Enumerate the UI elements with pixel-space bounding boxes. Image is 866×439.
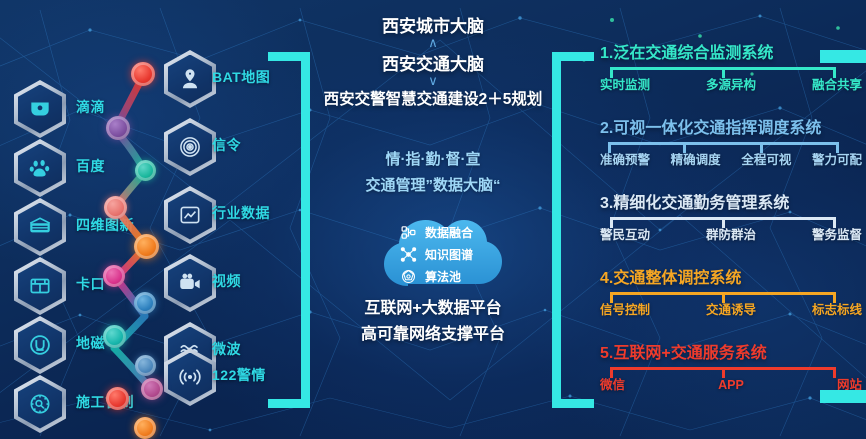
source-label-video: 视频 bbox=[212, 274, 241, 288]
accent-bar-top-right bbox=[820, 50, 866, 63]
section-number: 3. bbox=[600, 195, 613, 212]
section-number: 4. bbox=[600, 270, 613, 287]
source-label-microwave: 微波 bbox=[212, 342, 241, 356]
section-title: 泛在交通综合监测系统 bbox=[613, 45, 773, 62]
source-label-bat-map: BAT地图 bbox=[212, 70, 270, 84]
chain-node bbox=[103, 325, 126, 348]
chevron-down-icon: ∨ bbox=[300, 74, 566, 87]
source-hex-checkpoint[interactable] bbox=[14, 257, 66, 315]
node-ring bbox=[103, 325, 126, 348]
data-brain-cloud: 数据融合 知识图谱 算法池 bbox=[374, 198, 504, 290]
video-camera-icon bbox=[177, 270, 203, 296]
section-subitem[interactable]: 交通诱导 bbox=[706, 304, 756, 317]
section-title: 可视一体化交通指挥调度系统 bbox=[613, 120, 821, 137]
section-number: 2. bbox=[600, 120, 613, 137]
node-ring bbox=[141, 378, 163, 400]
source-hex-baidu[interactable] bbox=[14, 139, 66, 197]
bracket-bottom-arm bbox=[552, 399, 594, 408]
system-section-5[interactable]: 5.互联网+交通服务系统 微信 APP 网站 bbox=[600, 346, 862, 392]
industry-chart-icon bbox=[177, 202, 203, 228]
cloud-item-label: 算法池 bbox=[425, 268, 461, 285]
section-bracket bbox=[600, 217, 862, 228]
infographic-root: 滴滴 百度 四维图新 bbox=[0, 0, 866, 439]
section-subitem[interactable]: 微信 bbox=[600, 379, 625, 392]
source-hex-navinfo[interactable] bbox=[14, 198, 66, 256]
platform-line-1: 互联网+大数据平台 bbox=[300, 294, 566, 318]
source-label-alarm: 122警情 bbox=[212, 368, 266, 382]
section-heading: 2.可视一体化交通指挥调度系统 bbox=[600, 121, 862, 137]
navinfo-map-icon bbox=[27, 214, 53, 240]
center-subtitle-line1: 情·指·勤·督·宣 bbox=[300, 148, 566, 169]
center-title-line3: 西安交警智慧交通建设2＋5规划 bbox=[300, 87, 566, 109]
node-ring bbox=[106, 387, 129, 410]
chain-node bbox=[106, 387, 129, 410]
section-subitem[interactable]: 多源异构 bbox=[706, 79, 756, 92]
node-ring bbox=[134, 292, 156, 314]
section-number: 1. bbox=[600, 45, 613, 62]
section-subitem[interactable]: 警务监督 bbox=[812, 229, 862, 242]
section-title: 精细化交通勤务管理系统 bbox=[613, 195, 789, 212]
right-bracket bbox=[552, 52, 594, 408]
section-heading: 5.互联网+交通服务系统 bbox=[600, 346, 862, 362]
bracket-spine bbox=[552, 52, 561, 408]
node-ring bbox=[135, 355, 156, 376]
chain-node bbox=[134, 234, 159, 259]
node-ring bbox=[134, 417, 156, 439]
algorithm-pool-icon bbox=[400, 268, 417, 285]
center-panel: 西安城市大脑 ∧ 西安交通大脑 ∨ 西安交警智慧交通建设2＋5规划 情·指·勤·… bbox=[300, 0, 566, 439]
node-ring bbox=[131, 62, 155, 86]
node-ring bbox=[135, 160, 156, 181]
construction-control-icon bbox=[27, 391, 53, 417]
cloud-item-label: 数据融合 bbox=[425, 224, 473, 241]
baidu-paw-icon bbox=[27, 155, 53, 181]
chevron-up-icon: ∧ bbox=[300, 36, 566, 49]
chain-node bbox=[103, 265, 125, 287]
chain-node bbox=[141, 378, 163, 400]
section-bracket bbox=[600, 67, 862, 78]
section-subitems: 实时监测 多源异构 融合共享 bbox=[600, 79, 862, 92]
source-hex-construction[interactable] bbox=[14, 375, 66, 433]
section-subitem[interactable]: 融合共享 bbox=[812, 79, 862, 92]
center-subtitle-line2: 交通管理”数据大脑“ bbox=[300, 174, 566, 195]
chain-node bbox=[131, 62, 155, 86]
section-bracket bbox=[600, 367, 862, 378]
source-label-signaling: 信令 bbox=[212, 138, 241, 152]
map-pin-person-icon bbox=[177, 66, 203, 92]
checkpoint-gate-icon bbox=[27, 273, 53, 299]
section-heading: 4.交通整体调控系统 bbox=[600, 271, 862, 287]
chain-node bbox=[106, 116, 130, 140]
node-ring bbox=[104, 196, 127, 219]
node-ring bbox=[103, 265, 125, 287]
section-subitems: 警民互动 群防群治 警务监督 bbox=[600, 229, 862, 242]
system-section-2[interactable]: 2.可视一体化交通指挥调度系统 准确预警 精确调度 全程可视 警力可配 bbox=[600, 121, 862, 167]
platform-line-2: 高可靠网络支撑平台 bbox=[300, 320, 566, 344]
source-hex-magnetometer[interactable] bbox=[14, 316, 66, 374]
center-title-line2: 西安交通大脑 bbox=[300, 50, 566, 75]
system-section-3[interactable]: 3.精细化交通勤务管理系统 警民互动 群防群治 警务监督 bbox=[600, 196, 862, 242]
section-subitem[interactable]: 实时监测 bbox=[600, 79, 650, 92]
chain-node bbox=[104, 196, 127, 219]
chain-node bbox=[134, 417, 156, 439]
chain-node bbox=[135, 160, 156, 181]
cloud-item-label: 知识图谱 bbox=[425, 246, 473, 263]
chain-node bbox=[135, 355, 156, 376]
system-section-4[interactable]: 4.交通整体调控系统 信号控制 交通诱导 标志标线 bbox=[600, 271, 862, 317]
node-ring bbox=[106, 116, 130, 140]
didi-icon bbox=[27, 96, 53, 122]
section-subitem[interactable]: 警民互动 bbox=[600, 229, 650, 242]
section-subitem[interactable]: 信号控制 bbox=[600, 304, 650, 317]
section-bracket bbox=[600, 292, 862, 303]
section-subitem[interactable]: 警力可配 bbox=[812, 154, 862, 167]
chain-node bbox=[134, 292, 156, 314]
section-subitem[interactable]: 标志标线 bbox=[812, 304, 862, 317]
section-title: 互联网+交通服务系统 bbox=[613, 345, 766, 362]
section-subitems: 准确预警 精确调度 全程可视 警力可配 bbox=[600, 154, 862, 167]
magnetometer-icon bbox=[27, 332, 53, 358]
center-title-line1: 西安城市大脑 bbox=[300, 12, 566, 37]
node-ring bbox=[134, 234, 159, 259]
section-subitem[interactable]: 准确预警 bbox=[600, 154, 650, 167]
section-subitem[interactable]: 精确调度 bbox=[671, 154, 721, 167]
cloud-item-data-fusion: 数据融合 bbox=[400, 224, 473, 241]
section-subitem[interactable]: APP bbox=[718, 379, 744, 392]
section-bracket bbox=[600, 142, 862, 153]
data-fusion-icon bbox=[400, 224, 417, 241]
section-subitems: 信号控制 交通诱导 标志标线 bbox=[600, 304, 862, 317]
source-label-industry-data: 行业数据 bbox=[212, 206, 270, 220]
section-subitem[interactable]: 全程可视 bbox=[741, 154, 791, 167]
source-hex-didi[interactable] bbox=[14, 80, 66, 138]
signaling-radar-icon bbox=[177, 134, 203, 160]
cloud-item-algorithm-pool: 算法池 bbox=[400, 268, 461, 285]
knowledge-graph-icon bbox=[400, 246, 417, 263]
section-title: 交通整体调控系统 bbox=[613, 270, 741, 287]
accent-bar-bottom-right bbox=[820, 390, 866, 403]
section-number: 5. bbox=[600, 345, 613, 362]
cloud-item-knowledge-graph: 知识图谱 bbox=[400, 246, 473, 263]
alarm-broadcast-icon bbox=[177, 364, 203, 390]
section-subitem[interactable]: 群防群治 bbox=[706, 229, 756, 242]
section-heading: 3.精细化交通勤务管理系统 bbox=[600, 196, 862, 212]
